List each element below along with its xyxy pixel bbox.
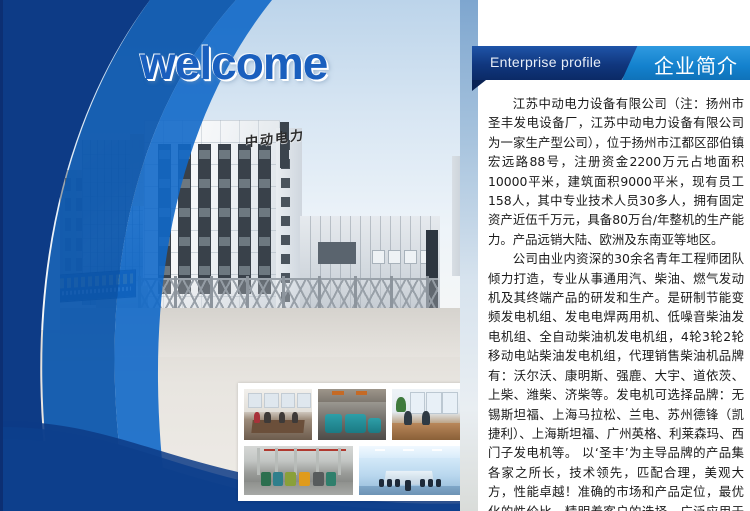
mullion	[83, 210, 143, 211]
company-sign-board	[60, 269, 136, 303]
window	[281, 197, 290, 207]
window	[281, 178, 290, 188]
window-strip	[218, 144, 231, 294]
photo-generator-warehouse	[243, 445, 354, 496]
hall-door	[318, 242, 356, 264]
left-frame-border	[0, 0, 3, 511]
banner-english-label: Enterprise profile	[490, 54, 601, 70]
window	[281, 235, 290, 245]
photo-conference-hall	[358, 445, 461, 496]
hero-panel: 中动电力 welcome	[0, 0, 478, 511]
banner-chinese-label: 企业简介	[654, 50, 738, 79]
window-strip	[238, 144, 251, 294]
hall-window	[372, 250, 385, 264]
window-strip	[198, 144, 211, 294]
window	[65, 198, 71, 211]
photo-row-top	[243, 388, 461, 441]
window-strip	[258, 144, 271, 294]
window-strip	[178, 144, 191, 294]
window	[281, 216, 290, 226]
photo-office-interior	[391, 388, 461, 441]
mullion	[83, 238, 143, 239]
photo-strip	[238, 383, 466, 501]
window-strip	[158, 144, 171, 294]
window	[65, 218, 71, 231]
section-banner: Enterprise profile 企业简介	[472, 46, 750, 80]
window	[281, 254, 290, 264]
window	[65, 258, 71, 271]
company-profile-slide: 中动电力 welcome	[0, 0, 750, 511]
window	[65, 238, 71, 251]
welcome-heading: welcome	[140, 36, 327, 90]
hall-window	[388, 250, 401, 264]
profile-paragraph-2: 公司由业内资深的30余名青年工程师团队倾力打造，专业从事通用汽、柴油、燃气发动机…	[488, 249, 744, 511]
profile-text-body: 江苏中动电力设备有限公司（注：扬州市圣丰发电设备厂，江苏中动电力设备有限公司为一…	[488, 94, 744, 511]
mullion	[83, 224, 143, 225]
hall-window	[404, 250, 417, 264]
profile-paragraph-1: 江苏中动电力设备有限公司（注：扬州市圣丰发电设备厂，江苏中动电力设备有限公司为一…	[488, 94, 744, 249]
mullion	[83, 266, 143, 267]
paving	[60, 308, 478, 357]
window	[65, 178, 71, 191]
factory-building-photo	[60, 112, 478, 357]
photo-generator-assembly	[317, 388, 387, 441]
photo-row-bottom	[243, 445, 461, 496]
sign-english-text	[62, 287, 131, 296]
mullion	[83, 252, 143, 253]
photo-office-meeting	[243, 388, 313, 441]
